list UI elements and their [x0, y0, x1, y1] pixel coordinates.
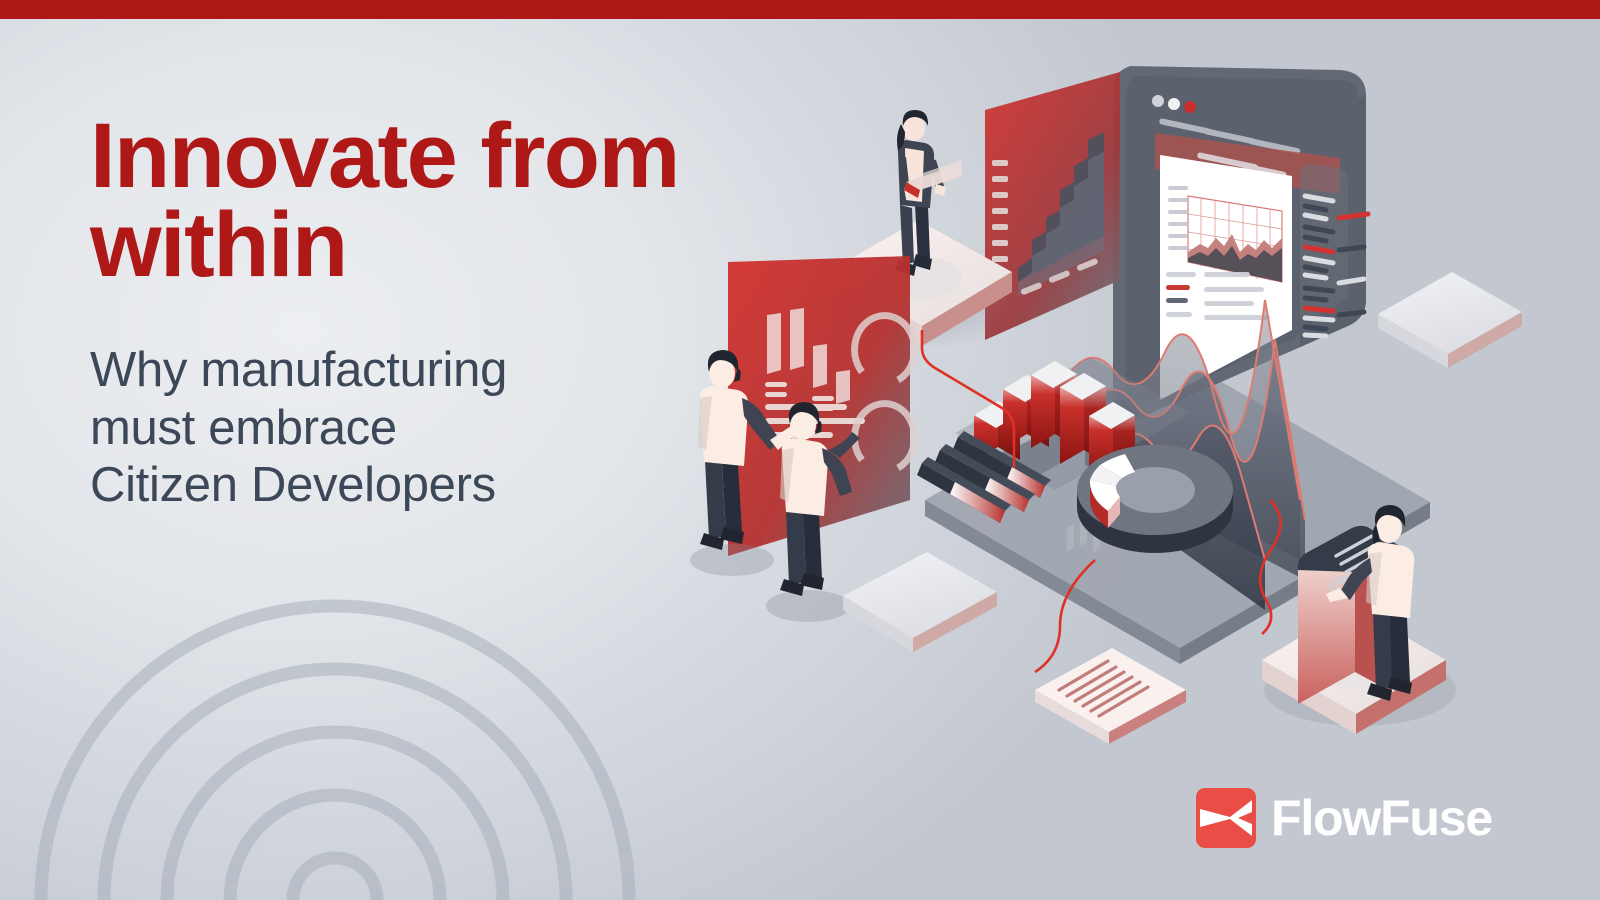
donut-chart-3d [1077, 445, 1233, 553]
page-subtitle: Why manufacturing must embrace Citizen D… [90, 342, 790, 514]
hero-text-block: Innovate from within Why manufacturing m… [90, 112, 790, 514]
document-sheet [1035, 648, 1186, 744]
tile-platform-right [1378, 272, 1522, 368]
flowfuse-logo-mark-icon [1196, 788, 1256, 848]
page-title: Innovate from within [90, 112, 790, 290]
tile-platform-center [843, 552, 997, 652]
brand-name: FlowFuse [1271, 793, 1492, 843]
poster-canvas: Innovate from within Why manufacturing m… [0, 0, 1600, 900]
brand-logo[interactable]: FlowFuse [1196, 788, 1492, 848]
top-accent-bar [0, 0, 1600, 19]
